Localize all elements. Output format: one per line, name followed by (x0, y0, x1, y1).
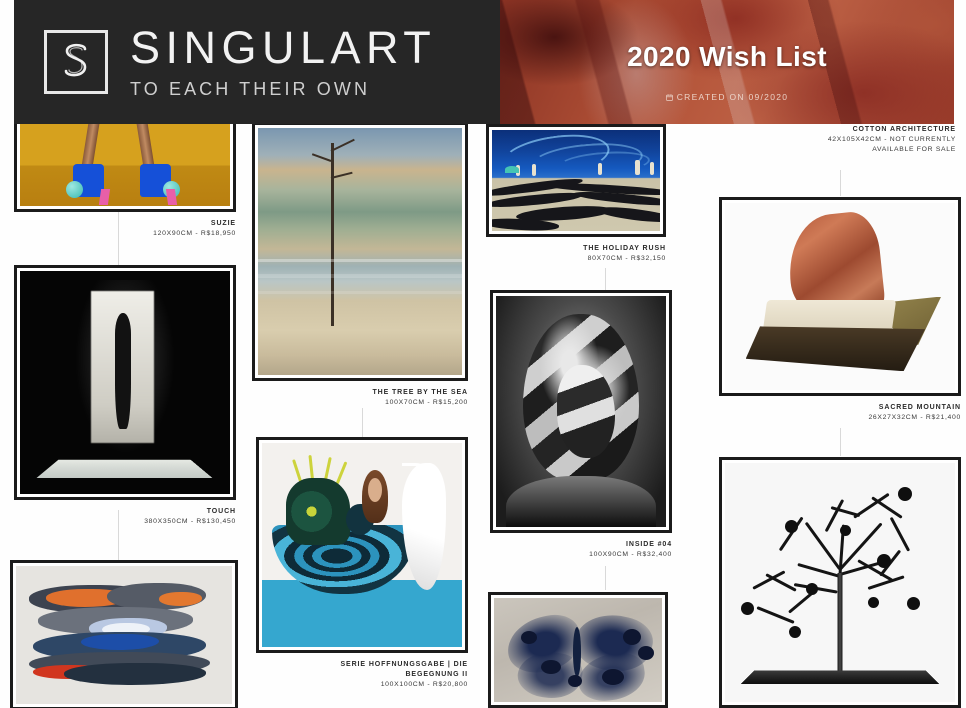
artwork-image-serie-hoffnungsgabe (262, 443, 462, 647)
artwork-meta-line1: 42X105X42CM - NOT CURRENTLY (718, 135, 956, 145)
artwork-title: THE TREE BY THE SEA (252, 388, 468, 398)
artwork-frame (256, 437, 468, 653)
artwork-caption: SERIE HOFFNUNGSGABE | DIE BEGEGNUNG II 1… (256, 660, 468, 690)
column-guide-5 (605, 268, 606, 292)
artwork-image-holiday-rush (492, 130, 660, 231)
tree-trunk (331, 143, 334, 326)
woman-face (368, 478, 382, 502)
artwork-image-tree-sculpture (725, 463, 955, 702)
column-guide-7 (840, 170, 841, 196)
sculpture-pole (838, 573, 843, 673)
column-guide-6 (605, 566, 606, 590)
artwork-frame (490, 290, 672, 533)
column-guide-8 (840, 428, 841, 456)
artwork-caption: INSIDE #04 100X90CM - R$32,400 (490, 540, 672, 560)
artwork-meta: 120X90CM - R$18,950 (14, 229, 236, 239)
artwork-card-sacred-mountain[interactable]: SACRED MOUNTAIN 26X27X32CM - R$21,400 (719, 197, 961, 423)
artwork-frame (486, 124, 666, 237)
artwork-caption: COTTON ARCHITECTURE 42X105X42CM - NOT CU… (718, 125, 960, 155)
shoulders (506, 476, 656, 527)
column-guide-4 (362, 408, 363, 440)
wishlist-page: SINGULART TO EACH THEIR OWN 2020 Wish Li… (0, 0, 966, 708)
artwork-card-touch[interactable]: TOUCH 380X350CM - R$130,450 (14, 265, 236, 527)
artwork-title: TOUCH (14, 507, 236, 517)
artwork-title: SACRED MOUNTAIN (719, 403, 961, 413)
artwork-frame (14, 116, 236, 212)
sculpture-base (746, 326, 925, 371)
artwork-image-tree-by-the-sea (258, 128, 462, 375)
artwork-card-tree-by-the-sea[interactable]: THE TREE BY THE SEA 100X70CM - R$15,200 (252, 122, 468, 408)
artwork-title: COTTON ARCHITECTURE (718, 125, 956, 135)
brand-header: SINGULART TO EACH THEIR OWN (14, 0, 500, 124)
artwork-meta: 80X70CM - R$32,150 (486, 254, 666, 264)
artwork-frame (719, 457, 961, 708)
artwork-caption: SUZIE 120X90CM - R$18,950 (14, 219, 236, 239)
brand-tagline: TO EACH THEIR OWN (130, 79, 436, 100)
artwork-image-suzie (20, 122, 230, 206)
artwork-image-waves (16, 566, 232, 704)
deer-figure (286, 478, 350, 545)
artwork-image-touch (20, 271, 230, 494)
artwork-frame (14, 265, 236, 500)
artwork-meta: 100X90CM - R$32,400 (490, 550, 672, 560)
figure-silhouette (115, 313, 132, 429)
artwork-image-inside-04 (496, 296, 666, 527)
artwork-meta: 100X70CM - R$15,200 (252, 398, 468, 408)
artwork-frame (252, 122, 468, 381)
artwork-meta: 100X100CM - R$20,800 (256, 680, 468, 690)
artwork-title-line2: BEGEGNUNG II (256, 670, 468, 680)
singulart-s-logo-icon (44, 30, 108, 94)
artwork-image-sacred-mountain (725, 203, 955, 390)
floor-plane (37, 459, 213, 477)
calendar-icon (666, 93, 673, 103)
artwork-caption: SACRED MOUNTAIN 26X27X32CM - R$21,400 (719, 403, 961, 423)
artwork-title: THE HOLIDAY RUSH (486, 244, 666, 254)
artwork-caption: THE TREE BY THE SEA 100X70CM - R$15,200 (252, 388, 468, 408)
artwork-caption: THE HOLIDAY RUSH 80X70CM - R$32,150 (486, 244, 666, 264)
artwork-card-tree-sculpture[interactable] (719, 457, 961, 708)
wishlist-created-on: CREATED ON 09/2020 (500, 92, 954, 103)
artwork-title: INSIDE #04 (490, 540, 672, 550)
artwork-card-inside-04[interactable]: INSIDE #04 100X90CM - R$32,400 (490, 290, 672, 560)
artwork-meta: 380X350CM - R$130,450 (14, 517, 236, 527)
artwork-card-serie-hoffnungsgabe[interactable]: SERIE HOFFNUNGSGABE | DIE BEGEGNUNG II 1… (256, 437, 468, 690)
artwork-card-suzie[interactable]: SUZIE 120X90CM - R$18,950 (14, 116, 236, 239)
artwork-frame (488, 592, 668, 708)
artwork-card-butterfly[interactable] (488, 592, 668, 708)
artwork-card-holiday-rush[interactable]: THE HOLIDAY RUSH 80X70CM - R$32,150 (486, 124, 666, 264)
artwork-meta-line2: AVAILABLE FOR SALE (718, 145, 956, 155)
sculpture-pedestal (741, 671, 939, 684)
artwork-meta: 26X27X32CM - R$21,400 (719, 413, 961, 423)
wishlist-banner: 2020 Wish List CREATED ON 09/2020 (500, 0, 954, 124)
artwork-frame (719, 197, 961, 396)
artwork-card-waves[interactable] (10, 560, 238, 708)
wishlist-title: 2020 Wish List (500, 41, 954, 73)
artwork-frame (10, 560, 238, 708)
artwork-title-line1: SERIE HOFFNUNGSGABE | DIE (256, 660, 468, 670)
artwork-caption: TOUCH 380X350CM - R$130,450 (14, 507, 236, 527)
created-on-text: CREATED ON 09/2020 (677, 92, 789, 102)
artwork-title: SUZIE (14, 219, 236, 229)
brand-name: SINGULART (130, 25, 436, 70)
artwork-image-butterfly (494, 598, 662, 702)
